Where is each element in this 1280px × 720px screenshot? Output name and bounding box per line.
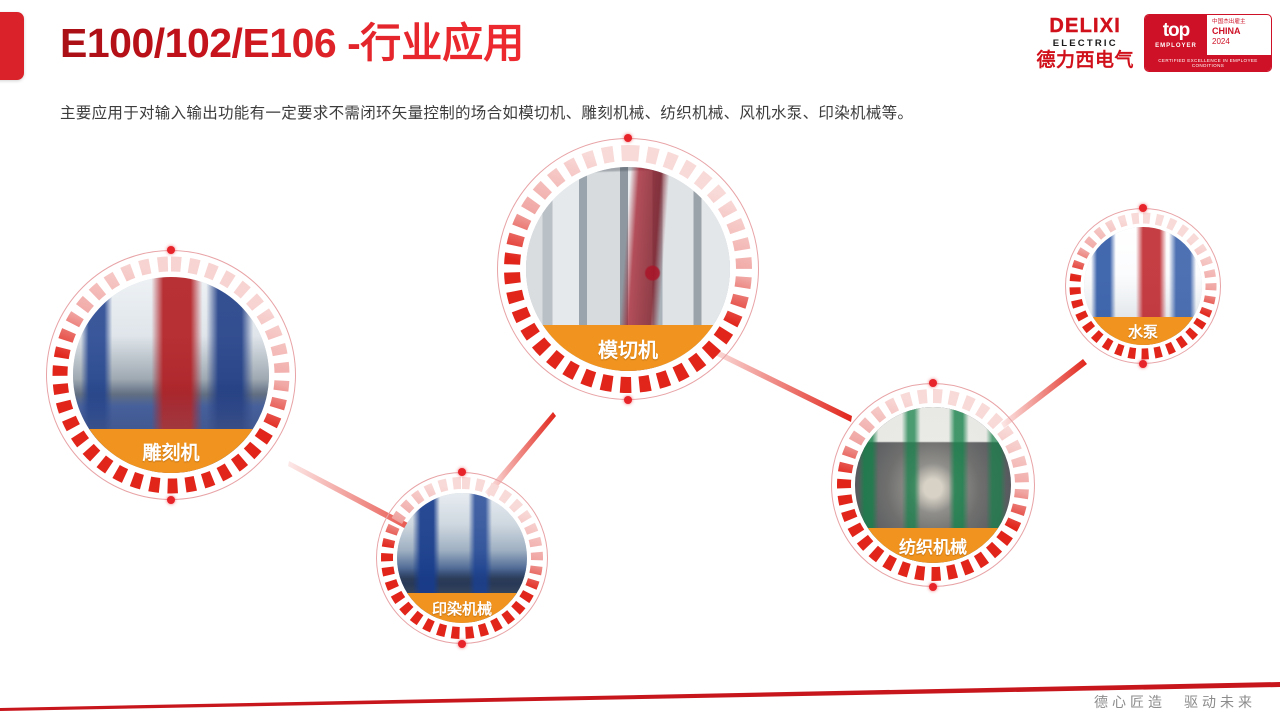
engraving-label-band: 雕刻机 — [73, 429, 269, 473]
dyeing-dot-top — [458, 468, 466, 476]
page-title-topic: 行业应用 — [360, 20, 524, 66]
diecutting-label: 模切机 — [598, 334, 658, 363]
top-employer-employer-word: EMPLOYER — [1155, 43, 1197, 49]
diagram-node-dyeing[interactable]: 印染机械 — [376, 472, 548, 644]
top-employer-country: CHINA — [1212, 26, 1271, 37]
waterpump-dot-bottom — [1139, 360, 1147, 368]
diecutting-dot-bottom — [624, 396, 632, 404]
diecutting-dot-top — [624, 134, 632, 142]
header-accent-tab — [0, 12, 24, 80]
engraving-label: 雕刻机 — [142, 438, 199, 465]
textile-dot-top — [929, 379, 937, 387]
top-employer-cn-label: 中国杰出雇主 — [1212, 19, 1271, 26]
top-employer-certification-strip: CERTIFIED EXCELLENCE IN EMPLOYEE CONDITI… — [1145, 55, 1271, 71]
diagram-node-waterpump[interactable]: 水泵 — [1065, 208, 1221, 364]
top-employer-upper: top EMPLOYER 中国杰出雇主 CHINA 2024 — [1145, 15, 1271, 55]
top-employer-mark: top EMPLOYER — [1145, 15, 1207, 55]
diagram-node-engraving[interactable]: 雕刻机 — [46, 250, 296, 500]
dyeing-photo: 印染机械 — [397, 493, 527, 623]
page-title: E100/102/E106 -行业应用 — [60, 20, 524, 67]
diagram-node-textile[interactable]: 纺织机械 — [831, 383, 1035, 587]
footer-slogan: 德心匠造 驱动未来 — [1094, 692, 1256, 712]
textile-label: 纺织机械 — [899, 533, 967, 558]
waterpump-photo: 水泵 — [1084, 227, 1202, 345]
page-title-separator: - — [336, 20, 360, 66]
diecutting-label-band: 模切机 — [526, 325, 730, 371]
engraving-dot-top — [167, 246, 175, 254]
engraving-dot-bottom — [167, 496, 175, 504]
page-title-model: E100/102/E106 — [60, 20, 336, 66]
dyeing-label-band: 印染机械 — [397, 593, 527, 623]
textile-photo: 纺织机械 — [855, 407, 1011, 563]
top-employer-top-word: top — [1163, 21, 1190, 40]
brand-logo-area: DELIXI ELECTRIC 德力西电气 top EMPLOYER 中国杰出雇… — [1036, 14, 1272, 72]
textile-label-band: 纺织机械 — [855, 528, 1011, 563]
diagram-node-diecutting[interactable]: 模切机 — [497, 138, 759, 400]
page-subtitle: 主要应用于对输入输出功能有一定要求不需闭环矢量控制的场合如模切机、雕刻机械、纺织… — [60, 101, 913, 123]
delixi-electric-label: ELECTRIC — [1053, 39, 1118, 49]
textile-dot-bottom — [929, 583, 937, 591]
delixi-logo: DELIXI ELECTRIC 德力西电气 — [1036, 16, 1134, 71]
delixi-chinese-name: 德力西电气 — [1036, 51, 1134, 70]
waterpump-dot-top — [1139, 204, 1147, 212]
dyeing-label: 印染机械 — [432, 598, 492, 619]
dyeing-dot-bottom — [458, 640, 466, 648]
waterpump-label: 水泵 — [1128, 321, 1158, 342]
top-employer-details: 中国杰出雇主 CHINA 2024 — [1207, 15, 1271, 55]
diecutting-photo: 模切机 — [526, 167, 730, 371]
footer-divider — [0, 660, 1280, 720]
waterpump-label-band: 水泵 — [1084, 317, 1202, 345]
industry-application-diagram: 雕刻机 模切机 — [0, 128, 1280, 668]
top-employer-badge: top EMPLOYER 中国杰出雇主 CHINA 2024 CERTIFIED… — [1144, 14, 1272, 72]
delixi-wordmark: DELIXI — [1049, 16, 1121, 36]
top-employer-year: 2024 — [1212, 37, 1271, 47]
engraving-photo: 雕刻机 — [73, 277, 269, 473]
